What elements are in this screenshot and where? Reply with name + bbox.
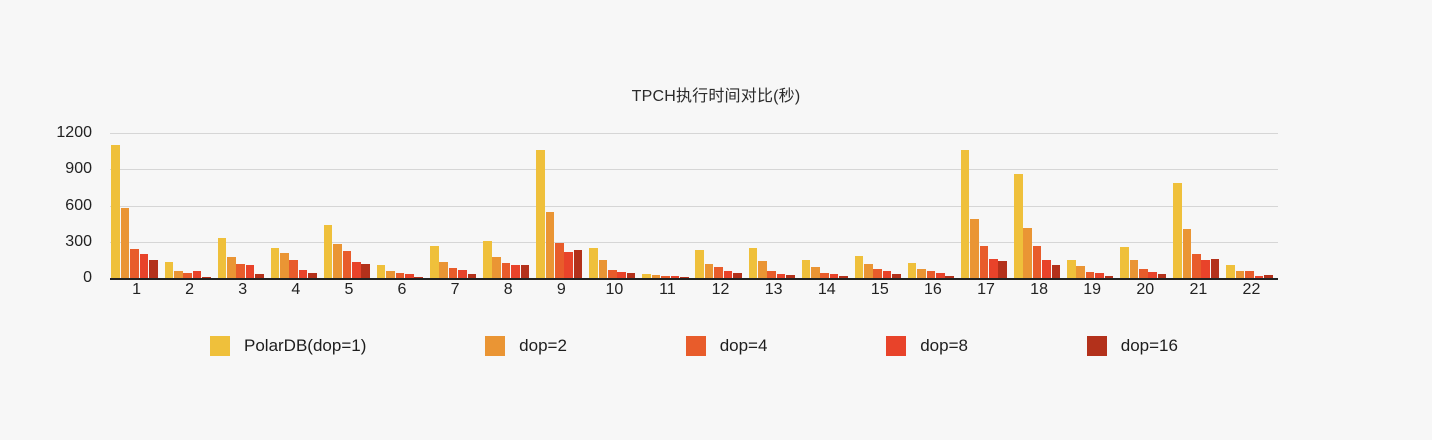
legend-label: dop=4 (720, 336, 768, 356)
bar[interactable] (1139, 269, 1148, 278)
x-axis-tick-label: 2 (185, 281, 194, 299)
bar[interactable] (661, 276, 670, 278)
bar[interactable] (377, 265, 386, 278)
bar[interactable] (149, 260, 158, 278)
bar[interactable] (1236, 271, 1245, 278)
bar-group (430, 133, 476, 278)
bar[interactable] (961, 150, 970, 278)
bar-group (802, 133, 848, 278)
bar[interactable] (1255, 276, 1264, 278)
bar[interactable] (333, 244, 342, 278)
bar[interactable] (280, 253, 289, 278)
bar[interactable] (468, 274, 477, 278)
bar[interactable] (439, 262, 448, 278)
bar[interactable] (1095, 273, 1104, 278)
legend-swatch-icon (485, 336, 505, 356)
bar-group (1120, 133, 1166, 278)
bar[interactable] (927, 271, 936, 278)
bar[interactable] (574, 250, 583, 278)
bar[interactable] (1245, 271, 1254, 278)
bar[interactable] (802, 260, 811, 278)
bar[interactable] (989, 259, 998, 278)
bar-group (165, 133, 211, 278)
x-axis-tick-label: 11 (659, 281, 676, 299)
bar[interactable] (430, 246, 439, 278)
legend-swatch-icon (886, 336, 906, 356)
plot-area (110, 133, 1278, 278)
x-axis-tick-label: 18 (1030, 281, 1048, 299)
bar[interactable] (121, 208, 130, 278)
bar[interactable] (111, 145, 120, 278)
bar[interactable] (1076, 266, 1085, 278)
chart-title: TPCH执行时间对比(秒) (0, 82, 1432, 106)
bar[interactable] (839, 276, 848, 278)
bar[interactable] (617, 272, 626, 278)
bar[interactable] (758, 261, 767, 278)
bar-group (111, 133, 157, 278)
bar[interactable] (970, 219, 979, 278)
bar[interactable] (652, 275, 661, 278)
legend-swatch-icon (1087, 336, 1107, 356)
x-axis-tick-label: 20 (1136, 281, 1154, 299)
bar[interactable] (820, 273, 829, 278)
bar[interactable] (555, 243, 564, 278)
y-axis-tick-label: 1200 (56, 124, 92, 142)
x-axis-tick-label: 12 (712, 281, 730, 299)
legend-label: dop=16 (1121, 336, 1178, 356)
bar-group (908, 133, 954, 278)
x-axis-tick-label: 5 (344, 281, 353, 299)
bar-group (695, 133, 741, 278)
bar[interactable] (608, 270, 617, 278)
bar[interactable] (855, 256, 864, 278)
bar[interactable] (299, 270, 308, 278)
bar-group (483, 133, 529, 278)
y-axis: 03006009001200 (0, 133, 100, 278)
bar[interactable] (1148, 272, 1157, 278)
x-axis-tick-label: 15 (871, 281, 889, 299)
bar-group (324, 133, 370, 278)
bar-group (642, 133, 688, 278)
bar[interactable] (671, 276, 680, 278)
x-axis-tick-label: 3 (238, 281, 247, 299)
x-axis-tick-label: 6 (398, 281, 407, 299)
x-axis-tick-label: 8 (504, 281, 513, 299)
x-axis-tick-label: 4 (291, 281, 300, 299)
bars-layer (110, 133, 1278, 278)
x-axis-tick-label: 19 (1083, 281, 1101, 299)
bar[interactable] (1173, 183, 1182, 278)
bar[interactable] (864, 264, 873, 278)
bar[interactable] (130, 249, 139, 278)
bar[interactable] (414, 277, 423, 279)
bar-group (589, 133, 635, 278)
bar[interactable] (546, 212, 555, 278)
bar[interactable] (236, 264, 245, 278)
bar[interactable] (483, 241, 492, 278)
bar[interactable] (724, 271, 733, 278)
bar[interactable] (218, 238, 227, 278)
bar-group (961, 133, 1007, 278)
bar[interactable] (733, 273, 742, 278)
bar[interactable] (1226, 265, 1235, 278)
chart-container: TPCH执行时间对比(秒) 03006009001200 12345678910… (0, 0, 1432, 440)
bar[interactable] (695, 250, 704, 278)
bar[interactable] (589, 248, 598, 278)
x-axis-tick-label: 22 (1243, 281, 1261, 299)
bar[interactable] (1042, 260, 1051, 278)
bar[interactable] (271, 248, 280, 278)
y-axis-tick-label: 900 (65, 160, 92, 178)
bar[interactable] (1211, 259, 1220, 278)
legend-item[interactable]: dop=4 (686, 336, 768, 356)
bar[interactable] (1023, 228, 1032, 278)
bar[interactable] (492, 257, 501, 278)
bar[interactable] (749, 248, 758, 278)
bar[interactable] (1033, 246, 1042, 278)
bar[interactable] (386, 271, 395, 278)
bar[interactable] (449, 268, 458, 278)
gridline (110, 278, 1278, 280)
x-axis-tick-label: 1 (132, 281, 141, 299)
bar[interactable] (980, 246, 989, 278)
bar-group (749, 133, 795, 278)
x-axis-tick-label: 10 (605, 281, 623, 299)
bar[interactable] (352, 262, 361, 278)
x-axis-tick-label: 13 (765, 281, 783, 299)
legend-swatch-icon (210, 336, 230, 356)
bar[interactable] (1105, 276, 1114, 278)
x-axis-tick-label: 7 (451, 281, 460, 299)
legend-label: PolarDB(dop=1) (244, 336, 366, 356)
bar[interactable] (892, 274, 901, 278)
bar-group (1067, 133, 1113, 278)
bar[interactable] (830, 274, 839, 278)
bar[interactable] (564, 252, 573, 278)
bar[interactable] (361, 264, 370, 278)
bar[interactable] (680, 277, 689, 279)
bar[interactable] (536, 150, 545, 278)
bar[interactable] (1130, 260, 1139, 278)
bar[interactable] (193, 271, 202, 278)
legend-item[interactable]: dop=2 (485, 336, 567, 356)
bar[interactable] (908, 263, 917, 278)
bar[interactable] (308, 273, 317, 278)
bar-group (1173, 133, 1219, 278)
bar[interactable] (873, 269, 882, 278)
x-axis-tick-label: 9 (557, 281, 566, 299)
y-axis-tick-label: 0 (83, 269, 92, 287)
bar[interactable] (705, 264, 714, 279)
bar-group (271, 133, 317, 278)
bar[interactable] (227, 257, 236, 278)
bar[interactable] (289, 260, 298, 278)
bar-group (855, 133, 901, 278)
x-axis-tick-label: 16 (924, 281, 942, 299)
bar[interactable] (777, 274, 786, 278)
y-axis-tick-label: 300 (65, 233, 92, 251)
legend-item[interactable]: dop=8 (886, 336, 968, 356)
bar-group (218, 133, 264, 278)
bar[interactable] (174, 271, 183, 278)
bar[interactable] (165, 262, 174, 278)
bar[interactable] (324, 225, 333, 278)
bar[interactable] (1014, 174, 1023, 278)
bar[interactable] (599, 260, 608, 278)
bar-group (377, 133, 423, 278)
bar[interactable] (1086, 272, 1095, 278)
bar[interactable] (1264, 275, 1273, 278)
chart-legend: PolarDB(dop=1)dop=2dop=4dop=8dop=16 (110, 336, 1278, 356)
bar[interactable] (1067, 260, 1076, 278)
bar-group (536, 133, 582, 278)
legend-swatch-icon (686, 336, 706, 356)
bar[interactable] (1158, 274, 1167, 278)
bar[interactable] (917, 269, 926, 278)
bar[interactable] (405, 274, 414, 278)
legend-label: dop=8 (920, 336, 968, 356)
bar[interactable] (627, 273, 636, 278)
bar[interactable] (1201, 260, 1210, 278)
bar[interactable] (1052, 265, 1061, 278)
bar[interactable] (502, 263, 511, 278)
bar[interactable] (1120, 247, 1129, 278)
bar[interactable] (767, 271, 776, 278)
bar[interactable] (458, 270, 467, 278)
bar[interactable] (642, 274, 651, 278)
bar[interactable] (343, 251, 352, 278)
bar[interactable] (183, 273, 192, 278)
x-axis-tick-label: 14 (818, 281, 836, 299)
bar[interactable] (255, 274, 264, 278)
legend-item[interactable]: PolarDB(dop=1) (210, 336, 366, 356)
legend-label: dop=2 (519, 336, 567, 356)
legend-item[interactable]: dop=16 (1087, 336, 1178, 356)
bar[interactable] (936, 273, 945, 278)
bar[interactable] (998, 261, 1007, 278)
bar-group (1014, 133, 1060, 278)
bar[interactable] (714, 267, 723, 278)
bar[interactable] (246, 265, 255, 278)
bar[interactable] (521, 265, 530, 278)
bar[interactable] (945, 276, 954, 278)
x-axis-tick-label: 17 (977, 281, 995, 299)
y-axis-tick-label: 600 (65, 197, 92, 215)
bar-group (1226, 133, 1272, 278)
bar[interactable] (1192, 254, 1201, 278)
bar[interactable] (811, 267, 820, 278)
bar[interactable] (140, 254, 149, 278)
bar[interactable] (202, 277, 211, 279)
bar[interactable] (396, 273, 405, 278)
x-axis: 12345678910111213141516171819202122 (110, 281, 1278, 307)
bar[interactable] (786, 275, 795, 278)
x-axis-tick-label: 21 (1189, 281, 1207, 299)
bar[interactable] (883, 271, 892, 278)
bar[interactable] (1183, 229, 1192, 278)
bar[interactable] (511, 265, 520, 278)
